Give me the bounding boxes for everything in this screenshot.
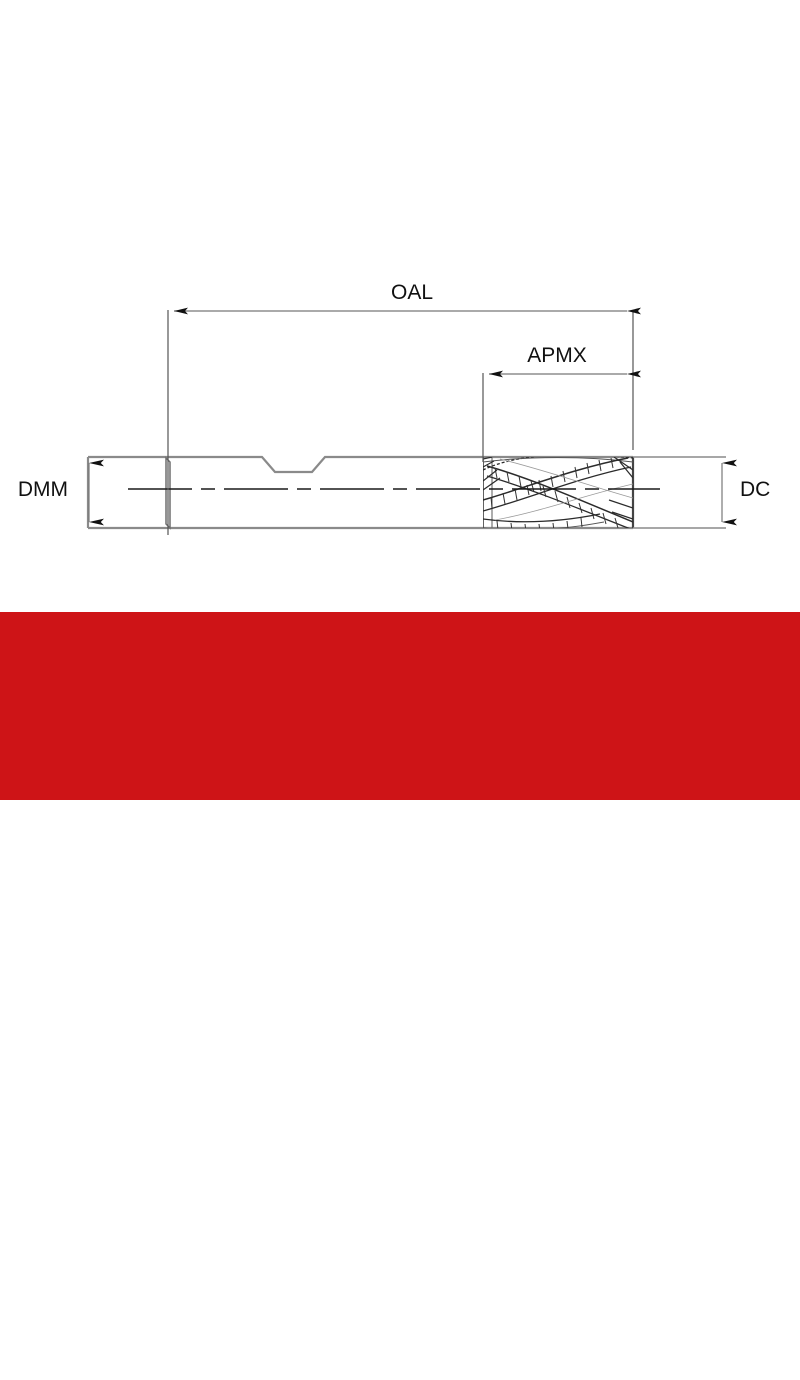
screenshot-root: OAL APMX DMM DC Legend: DC = Cutt: [0, 0, 800, 800]
dimension-dc: DC: [633, 457, 770, 528]
legend-rows: DC = Cutter Diameter DMM = Shank Diamete…: [0, 1284, 800, 1380]
legend-banner: Legend: DC = Cutter Diameter DMM = Shank…: [0, 612, 800, 800]
legend-eq: =: [57, 1316, 79, 1337]
legend-desc-apmx: Flute Length: [91, 1348, 197, 1369]
end-mill-technical-drawing: OAL APMX DMM DC: [0, 0, 800, 612]
legend-entry-oal: OAL = Overall Length: [17, 1316, 202, 1338]
legend-heading: Legend:: [47, 1228, 165, 1266]
dimension-dmm: DMM: [18, 463, 89, 522]
legend-abbr-apmx: APMX: [14, 1348, 69, 1369]
legend-abbr-oal: OAL: [17, 1316, 57, 1337]
legend-row: OAL = Overall Length: [0, 1316, 800, 1348]
dimension-oal: OAL: [168, 281, 633, 535]
legend-abbr-dc: DC: [33, 1284, 60, 1305]
dimension-label-dmm: DMM: [18, 478, 68, 501]
legend-eq: =: [69, 1348, 91, 1369]
legend-desc-oal: Overall Length: [79, 1316, 203, 1337]
dimension-label-oal: OAL: [391, 281, 433, 304]
legend-row: APMX = Flute Length: [0, 1348, 800, 1380]
dimension-label-dc: DC: [740, 478, 770, 501]
dimension-apmx: APMX: [483, 344, 627, 462]
legend-desc-dmm: Shank Diameter: [344, 1284, 480, 1305]
legend-entry-apmx: APMX = Flute Length: [14, 1348, 196, 1370]
legend-row: DC = Cutter Diameter DMM = Shank Diamete…: [0, 1284, 800, 1316]
legend-abbr-dmm: DMM: [277, 1284, 322, 1305]
legend-eq: =: [322, 1284, 344, 1305]
dimension-label-apmx: APMX: [527, 344, 587, 367]
flute-section: [483, 454, 633, 532]
legend-eq: =: [60, 1284, 82, 1305]
legend-entry-dmm: DMM = Shank Diameter: [277, 1284, 480, 1306]
legend-entry-dc: DC = Cutter Diameter: [33, 1284, 216, 1306]
legend-desc-dc: Cutter Diameter: [82, 1284, 216, 1305]
